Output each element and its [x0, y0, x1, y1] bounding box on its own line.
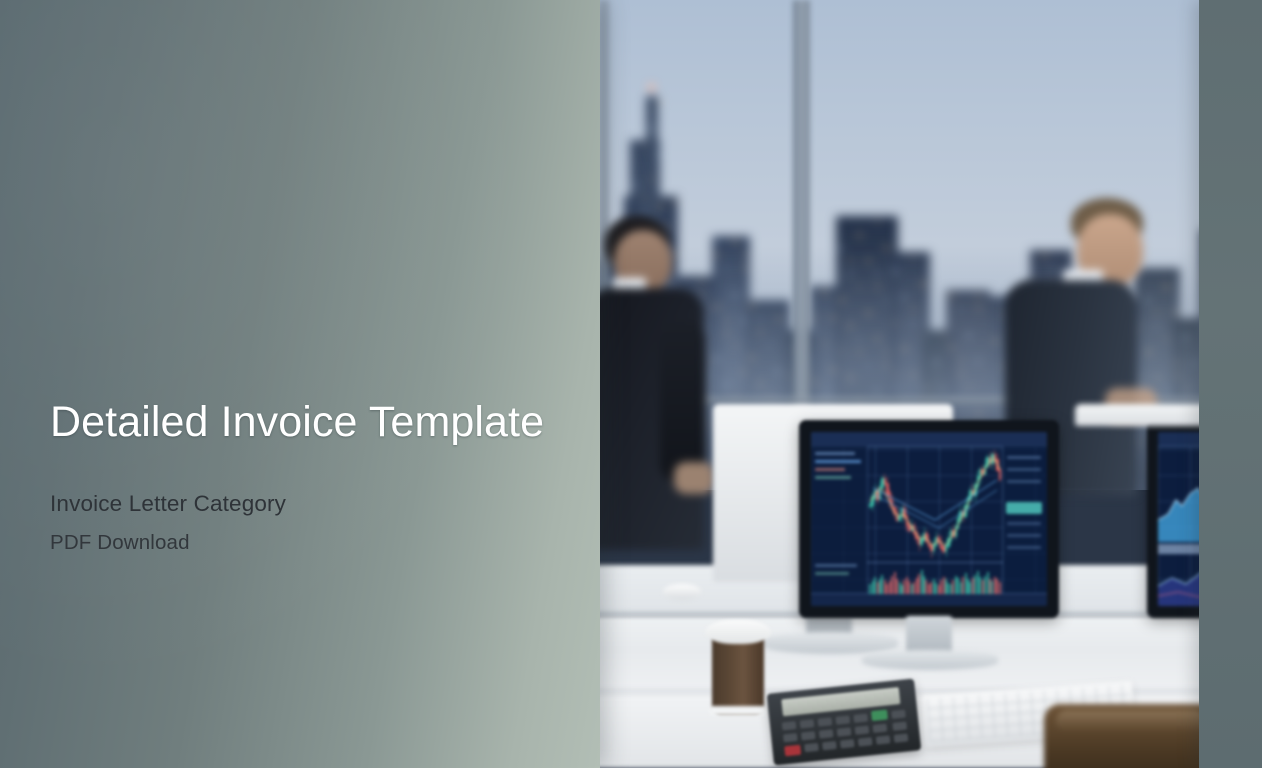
arm-left-person	[660, 322, 706, 482]
imac-foot	[762, 632, 898, 654]
coffee-cup-body	[712, 636, 764, 714]
moving-average-line	[869, 450, 1001, 554]
volume-series	[869, 568, 1001, 594]
leather-chair	[1044, 704, 1224, 768]
chart-toolbar	[811, 432, 1047, 447]
chart-left-panel	[811, 446, 868, 606]
coffee-cup-base	[709, 706, 767, 715]
hand-left-person	[674, 462, 714, 494]
volume-divider	[867, 562, 1003, 563]
coffee-cup-lid	[705, 620, 771, 644]
document-format: PDF Download	[50, 530, 590, 556]
computer-mouse	[663, 584, 701, 600]
title-block: Detailed Invoice Template Invoice Letter…	[50, 398, 590, 556]
chart-right-panel	[1002, 446, 1047, 606]
slide-canvas: Detailed Invoice Template Invoice Letter…	[0, 0, 1262, 768]
trading-monitor-primary-screen	[811, 432, 1047, 606]
document-category: Invoice Letter Category	[50, 490, 590, 518]
trading-monitor-primary-foot	[862, 650, 998, 670]
calculator	[767, 678, 922, 765]
businessman-left	[586, 212, 716, 572]
title-panel: Detailed Invoice Template Invoice Letter…	[0, 0, 600, 768]
chart-timeline-axis	[811, 593, 1047, 606]
right-edge-strip	[1199, 0, 1262, 768]
trading-monitor-primary	[799, 420, 1059, 618]
page-title: Detailed Invoice Template	[50, 398, 590, 446]
